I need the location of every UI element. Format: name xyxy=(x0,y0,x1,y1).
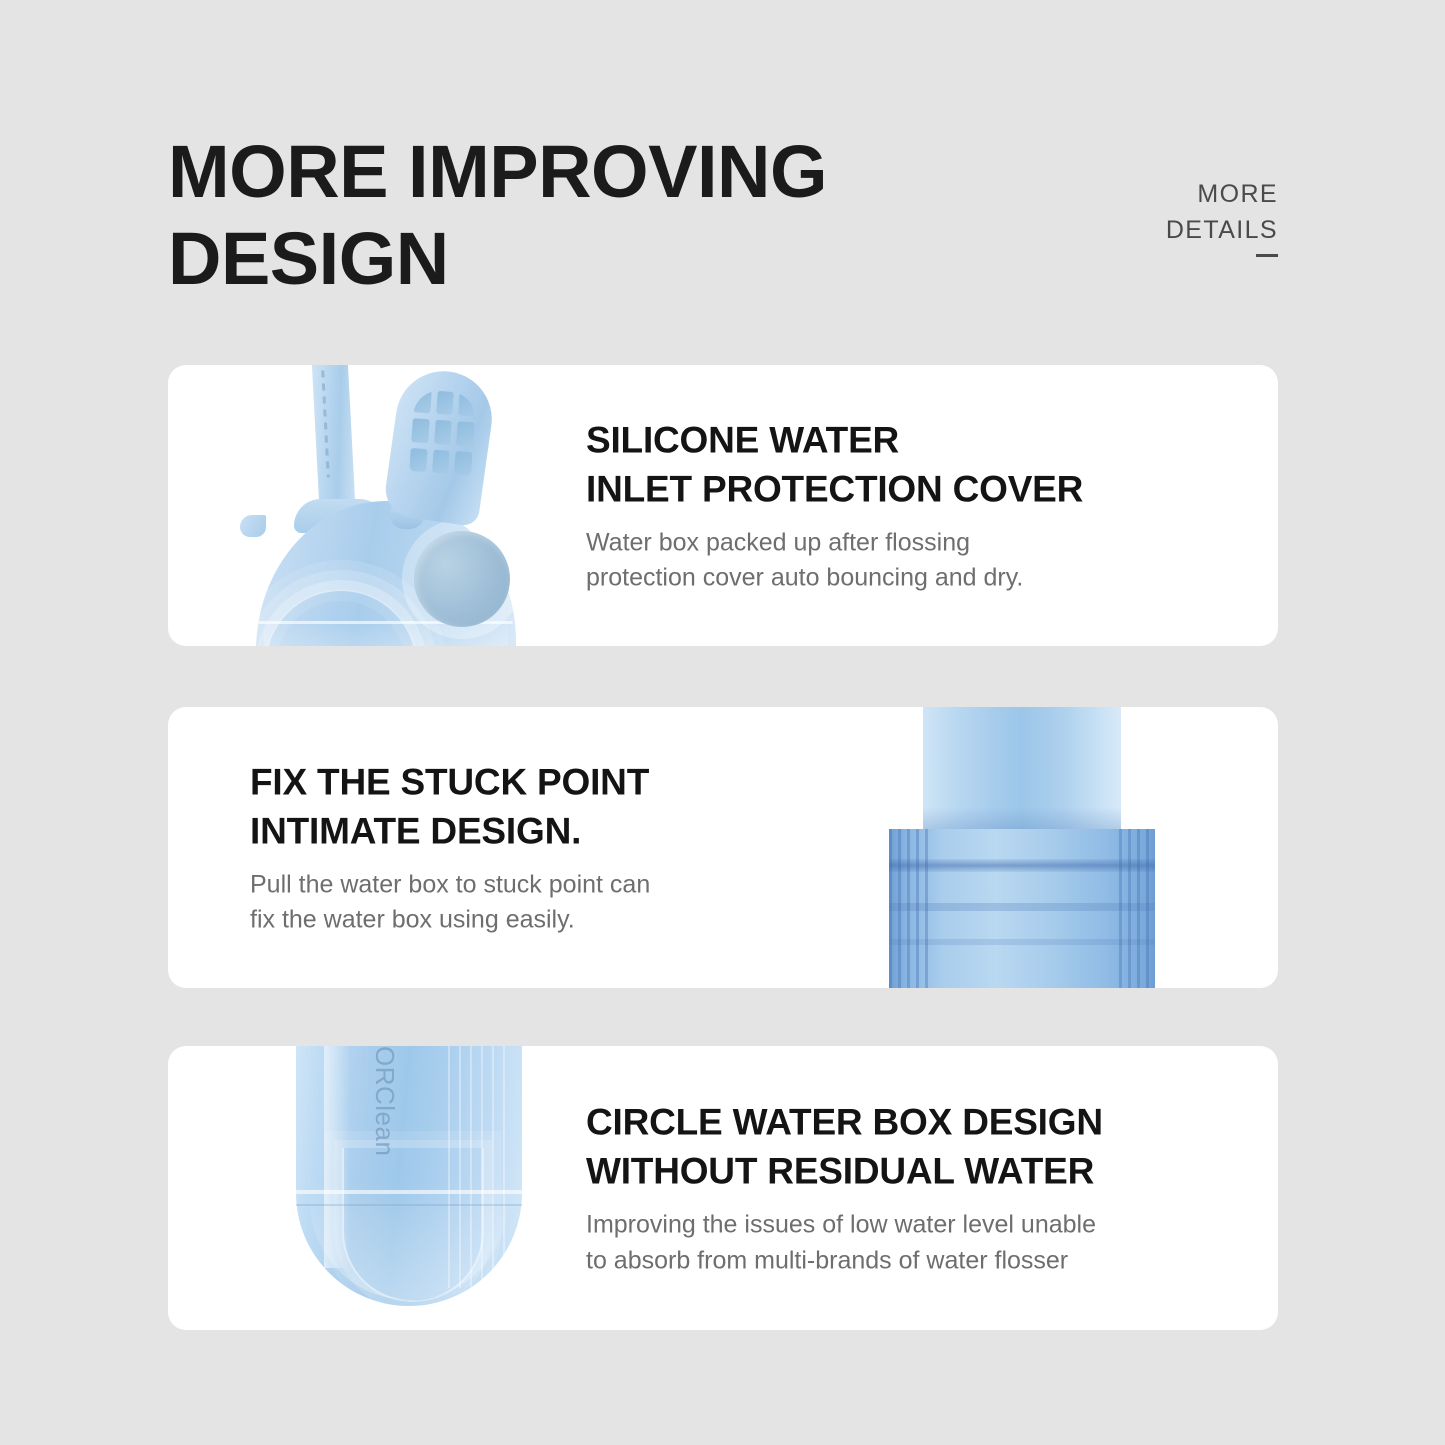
cylinder-upper-section xyxy=(923,707,1121,837)
product-image-circle-water-box: ORClean xyxy=(250,1046,580,1330)
feature-card-stuck-point: FIX THE STUCK POINT INTIMATE DESIGN. Pul… xyxy=(168,707,1278,988)
card-description: Pull the water box to stuck point can fi… xyxy=(250,867,850,938)
product-image-stuck-point xyxy=(889,707,1155,988)
nozzle-tube-icon xyxy=(311,365,356,520)
header: MORE IMPROVING DESIGN MORE DETAILS xyxy=(168,128,1278,318)
card-text-block: SILICONE WATER INLET PROTECTION COVER Wa… xyxy=(586,415,1226,596)
silicone-cover-cap xyxy=(382,365,498,527)
cylinder-ribs-left xyxy=(889,829,931,988)
card-description: Water box packed up after flossing prote… xyxy=(586,525,1226,596)
lattice-grid-icon xyxy=(409,389,477,475)
infographic-page: MORE IMPROVING DESIGN MORE DETAILS SILIC… xyxy=(0,0,1445,1445)
card-text-block: FIX THE STUCK POINT INTIMATE DESIGN. Pul… xyxy=(250,757,850,938)
card-title: SILICONE WATER INLET PROTECTION COVER xyxy=(586,415,1226,513)
cylinder-ribs-right xyxy=(1113,829,1155,988)
card-text-block: CIRCLE WATER BOX DESIGN WITHOUT RESIDUAL… xyxy=(586,1097,1226,1278)
water-level-seam xyxy=(296,1190,522,1194)
product-image-silicone-cover xyxy=(168,365,568,646)
water-level-seam-shadow xyxy=(296,1204,522,1206)
brand-text: ORClean xyxy=(369,1046,400,1156)
card-description: Improving the issues of low water level … xyxy=(586,1208,1226,1279)
side-clip xyxy=(240,515,266,537)
more-details-dash xyxy=(1256,254,1278,257)
feature-card-silicone-cover: SILICONE WATER INLET PROTECTION COVER Wa… xyxy=(168,365,1278,646)
more-details-label: MORE DETAILS xyxy=(1048,176,1278,249)
feature-card-circle-water-box: ORClean CIRCLE WATER BOX DESIGN WITHOUT … xyxy=(168,1046,1278,1330)
card-title: FIX THE STUCK POINT INTIMATE DESIGN. xyxy=(250,757,850,855)
page-title: MORE IMPROVING DESIGN xyxy=(168,128,968,303)
card-title: CIRCLE WATER BOX DESIGN WITHOUT RESIDUAL… xyxy=(586,1097,1226,1195)
inner-chamber-outline xyxy=(342,1148,484,1302)
